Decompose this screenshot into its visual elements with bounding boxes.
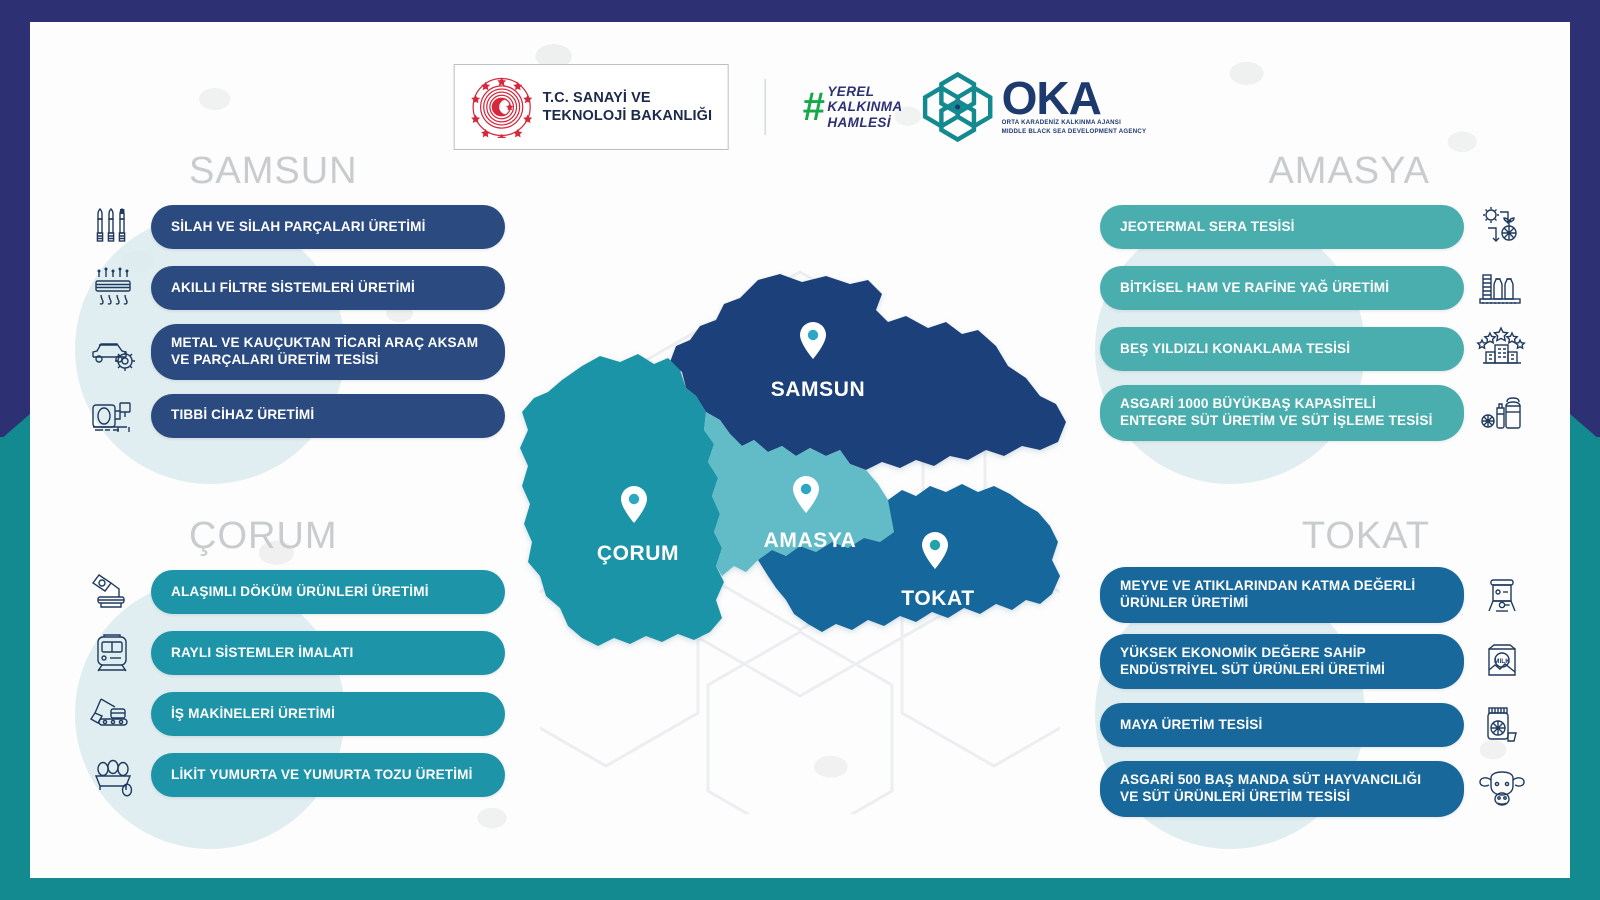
item-label: TIBBİ CİHAZ ÜRETİMİ [151, 394, 505, 438]
map-svg: SAMSUN ÇORUM AMASYA TOKAT [510, 270, 1090, 690]
list-item[interactable]: JEOTERMAL SERA TESİSİ [1100, 202, 1530, 252]
five-star-hotel-icon [1474, 324, 1530, 374]
yeast-jar-icon [1474, 700, 1530, 750]
geothermal-greenhouse-icon [1474, 202, 1530, 252]
list-item[interactable]: RAYLI SİSTEMLER İMALATI [85, 628, 505, 678]
frame-bottom-strip [0, 878, 1600, 900]
map-label-samsun: SAMSUN [771, 378, 866, 401]
air-filter-icon [85, 263, 141, 313]
frame-left-navy [0, 0, 30, 437]
oil-refinery-tanks-icon [1474, 263, 1530, 313]
list-item[interactable]: İŞ MAKİNELERİ ÜRETİMİ [85, 689, 505, 739]
agency-text-block: OKA ORTA KARADENİZ KALKINMA AJANSI MIDDL… [1002, 77, 1147, 137]
logo-divider [765, 79, 766, 135]
campaign-title: YEREL KALKINMA HAMLESİ [827, 84, 902, 129]
map-label-tokat: TOKAT [901, 587, 974, 610]
list-item[interactable]: SİLAH VE SİLAH PARÇALARI ÜRETİMİ [85, 202, 505, 252]
mri-medical-device-icon [85, 391, 141, 441]
item-label: AKILLI FİLTRE SİSTEMLERİ ÜRETİMİ [151, 266, 505, 310]
frame-left-band [0, 0, 30, 900]
eggs-basket-icon [85, 750, 141, 800]
buffalo-head-icon [1474, 764, 1530, 814]
svg-text:MILK: MILK [1494, 658, 1510, 665]
foundry-casting-icon [85, 567, 141, 617]
list-item[interactable]: MAYA ÜRETİM TESİSİ [1100, 700, 1530, 750]
frame-right-navy [1570, 0, 1600, 437]
item-label: MAYA ÜRETİM TESİSİ [1100, 703, 1464, 747]
agency-logo-block: OKA ORTA KARADENİZ KALKINMA AJANSI MIDDL… [921, 70, 1147, 144]
region-column-amasya: AMASYA JEOTERMAL SER [1100, 152, 1530, 441]
item-label: RAYLI SİSTEMLER İMALATI [151, 631, 505, 675]
item-label: ASGARİ 1000 BÜYÜKBAŞ KAPASİTELİ ENTEGRE … [1100, 385, 1464, 441]
ministry-title: T.C. SANAYİ VE TEKNOLOJİ BAKANLIĞI [543, 89, 712, 125]
region-title-tokat: TOKAT [1100, 517, 1530, 555]
frame-left-teal [0, 437, 30, 900]
item-label: SİLAH VE SİLAH PARÇALARI ÜRETİMİ [151, 205, 505, 249]
frame-top-strip [0, 0, 1600, 22]
item-label: METAL VE KAUÇUKTAN TİCARİ ARAÇ AKSAM VE … [151, 324, 505, 380]
list-item[interactable]: ASGARİ 1000 BÜYÜKBAŞ KAPASİTELİ ENTEGRE … [1100, 385, 1530, 441]
region-title-samsun: SAMSUN [85, 152, 505, 190]
ministry-logo-block: T.C. SANAYİ VE TEKNOLOJİ BAKANLIĞI [454, 64, 729, 150]
region-title-amasya: AMASYA [1100, 152, 1530, 190]
milk-can-bottle-icon [1474, 388, 1530, 438]
region-column-corum: ÇORUM ALAŞIMLI DÖKÜM ÜRÜNLERİ ÜRETİMİ [85, 517, 505, 800]
region-column-samsun: SAMSUN SİLAH VE SİLAH PARÇALARI ÜRE [85, 152, 505, 441]
item-label: MEYVE VE ATIKLARINDAN KATMA DEĞERLİ ÜRÜN… [1100, 567, 1464, 623]
list-item[interactable]: LİKİT YUMURTA VE YUMURTA TOZU ÜRETİMİ [85, 750, 505, 800]
item-label: BİTKİSEL HAM VE RAFİNE YAĞ ÜRETİMİ [1100, 266, 1464, 310]
map-label-corum: ÇORUM [597, 542, 679, 565]
turkey-ministry-emblem-icon [471, 76, 533, 138]
list-item[interactable]: BEŞ YILDIZLI KONAKLAMA TESİSİ [1100, 324, 1530, 374]
fermentation-tank-icon [1474, 570, 1530, 620]
oka-geometric-logo-icon [921, 70, 995, 144]
map-label-amasya: AMASYA [764, 529, 857, 552]
agency-name-tr: ORTA KARADENİZ KALKINMA AJANSI [1002, 119, 1147, 128]
frame-right-teal [1570, 437, 1600, 900]
list-item[interactable]: BİTKİSEL HAM VE RAFİNE YAĞ ÜRETİMİ [1100, 263, 1530, 313]
content-canvas: T.C. SANAYİ VE TEKNOLOJİ BAKANLIĞI # YER… [30, 22, 1570, 878]
item-label: İŞ MAKİNELERİ ÜRETİMİ [151, 692, 505, 736]
train-icon [85, 628, 141, 678]
item-label: JEOTERMAL SERA TESİSİ [1100, 205, 1464, 249]
agency-name-en: MIDDLE BLACK SEA DEVELOPMENT AGENCY [1002, 128, 1147, 137]
item-label: YÜKSEK EKONOMİK DEĞERE SAHİP ENDÜSTRİYEL… [1100, 634, 1464, 690]
hashtag-icon: # [802, 91, 822, 123]
item-label: ASGARİ 500 BAŞ MANDA SÜT HAYVANCILIĞI VE… [1100, 761, 1464, 817]
list-item[interactable]: MILK YÜKSEK EKONOMİK DEĞERE SAHİP ENDÜST… [1100, 634, 1530, 690]
list-item[interactable]: MEYVE VE ATIKLARINDAN KATMA DEĞERLİ ÜRÜN… [1100, 567, 1530, 623]
milk-powder-bag-icon: MILK [1474, 637, 1530, 687]
list-item[interactable]: TIBBİ CİHAZ ÜRETİMİ [85, 391, 505, 441]
logo-bar: T.C. SANAYİ VE TEKNOLOJİ BAKANLIĞI # YER… [454, 64, 1147, 150]
excavator-icon [85, 689, 141, 739]
item-list-samsun: SİLAH VE SİLAH PARÇALARI ÜRETİMİ AKILLI … [85, 202, 505, 441]
campaign-logo-block: # YEREL KALKINMA HAMLESİ [802, 84, 902, 129]
item-list-corum: ALAŞIMLI DÖKÜM ÜRÜNLERİ ÜRETİMİ R [85, 567, 505, 800]
ammunition-bullets-icon [85, 202, 141, 252]
item-label: ALAŞIMLI DÖKÜM ÜRÜNLERİ ÜRETİMİ [151, 570, 505, 614]
region-map: SAMSUN ÇORUM AMASYA TOKAT [510, 270, 1090, 690]
list-item[interactable]: ASGARİ 500 BAŞ MANDA SÜT HAYVANCILIĞI VE… [1100, 761, 1530, 817]
agency-acronym: OKA [1002, 77, 1147, 119]
frame-right-band [1570, 0, 1600, 900]
item-label: BEŞ YILDIZLI KONAKLAMA TESİSİ [1100, 327, 1464, 371]
item-list-tokat: MEYVE VE ATIKLARINDAN KATMA DEĞERLİ ÜRÜN… [1100, 567, 1530, 817]
item-label: LİKİT YUMURTA VE YUMURTA TOZU ÜRETİMİ [151, 753, 505, 797]
list-item[interactable]: METAL VE KAUÇUKTAN TİCARİ ARAÇ AKSAM VE … [85, 324, 505, 380]
list-item[interactable]: AKILLI FİLTRE SİSTEMLERİ ÜRETİMİ [85, 263, 505, 313]
item-list-amasya: JEOTERMAL SERA TESİSİ [1100, 202, 1530, 441]
region-title-corum: ÇORUM [85, 517, 505, 555]
infographic-root: T.C. SANAYİ VE TEKNOLOJİ BAKANLIĞI # YER… [0, 0, 1600, 900]
car-gear-icon [85, 327, 141, 377]
region-column-tokat: TOKAT MEYVE VE ATIKL [1100, 517, 1530, 817]
list-item[interactable]: ALAŞIMLI DÖKÜM ÜRÜNLERİ ÜRETİMİ [85, 567, 505, 617]
